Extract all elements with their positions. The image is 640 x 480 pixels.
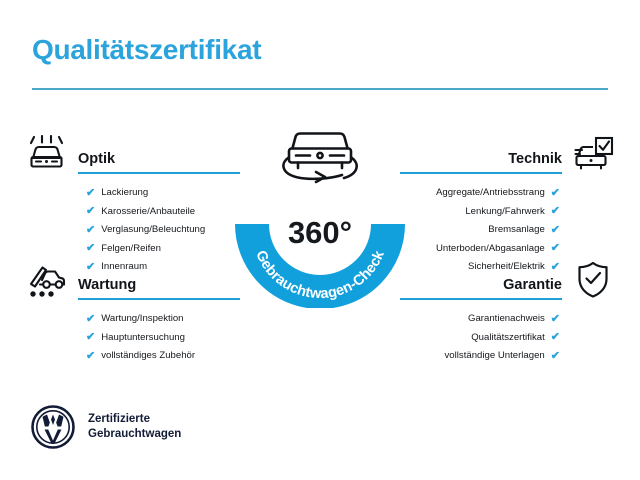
check-icon: ✔ [86, 188, 95, 199]
check-icon: ✔ [551, 314, 560, 325]
list-item-label: Aggregate/Antriebsstrang [436, 184, 545, 203]
list-item-label: vollständiges Zubehör [101, 347, 195, 366]
section-wartung-list: ✔Wartung/Inspektion ✔Hauptuntersuchung ✔… [24, 310, 240, 366]
list-item: Qualitätszertifikat✔ [400, 329, 616, 348]
vw-footer: Zertifizierte Gebrauchtwagen [30, 404, 181, 450]
list-item: ✔vollständiges Zubehör [24, 347, 240, 366]
list-item-label: vollständige Unterlagen [445, 347, 545, 366]
list-item-label: Karosserie/Anbauteile [101, 203, 195, 222]
section-optik-header: Optik [24, 132, 240, 174]
check-icon: ✔ [86, 225, 95, 236]
badge-360-gebrauchtwagen-check: Gebrauchtwagen-Check 360° [228, 112, 412, 308]
list-item-label: Felgen/Reifen [101, 240, 161, 259]
car-service-wrench-icon [24, 260, 70, 300]
section-optik-title: Optik [70, 150, 240, 172]
vw-logo-icon [30, 404, 76, 450]
list-item-label: Unterboden/Abgasanlage [436, 240, 545, 259]
section-wartung: Wartung ✔Wartung/Inspektion ✔Hauptunters… [24, 258, 240, 366]
list-item: ✔Lackierung [24, 184, 240, 203]
list-item: Unterboden/Abgasanlage✔ [400, 240, 616, 259]
check-icon: ✔ [551, 188, 560, 199]
check-icon: ✔ [551, 243, 560, 254]
list-item-label: Bremsanlage [488, 221, 545, 240]
vw-footer-line1: Zertifizierte [88, 412, 181, 427]
check-icon: ✔ [86, 206, 95, 217]
list-item: ✔Felgen/Reifen [24, 240, 240, 259]
list-item: ✔Wartung/Inspektion [24, 310, 240, 329]
list-item-label: Hauptuntersuchung [101, 329, 185, 348]
list-item-label: Wartung/Inspektion [101, 310, 183, 329]
list-item: vollständige Unterlagen✔ [400, 347, 616, 366]
list-item: Lenkung/Fahrwerk✔ [400, 203, 616, 222]
check-icon: ✔ [86, 243, 95, 254]
check-icon: ✔ [551, 351, 560, 362]
section-wartung-underline [78, 298, 240, 300]
section-optik: Optik ✔Lackierung ✔Karosserie/Anbauteile… [24, 132, 240, 277]
list-item-label: Verglasung/Beleuchtung [101, 221, 205, 240]
list-item: Aggregate/Antriebsstrang✔ [400, 184, 616, 203]
list-item: Garantienachweis✔ [400, 310, 616, 329]
check-icon: ✔ [551, 206, 560, 217]
page-title: Qualitätszertifikat [32, 34, 261, 66]
car-checkbox-icon [570, 134, 616, 174]
vw-footer-text: Zertifizierte Gebrauchtwagen [88, 412, 181, 442]
check-icon: ✔ [86, 351, 95, 362]
list-item-label: Lenkung/Fahrwerk [465, 203, 544, 222]
quality-certificate-page: Qualitätszertifikat [0, 0, 640, 480]
section-garantie-list: Garantienachweis✔ Qualitätszertifikat✔ v… [400, 310, 616, 366]
list-item-label: Qualitätszertifikat [471, 329, 545, 348]
section-garantie: Garantie Garantienachweis✔ Qualitätszert… [400, 258, 616, 366]
list-item-label: Garantienachweis [468, 310, 545, 329]
check-icon: ✔ [551, 332, 560, 343]
list-item: ✔Verglasung/Beleuchtung [24, 221, 240, 240]
section-wartung-title: Wartung [70, 276, 240, 298]
list-item: Bremsanlage✔ [400, 221, 616, 240]
section-garantie-title: Garantie [400, 276, 570, 298]
section-technik-title: Technik [400, 150, 570, 172]
section-garantie-header: Garantie [400, 258, 616, 300]
list-item-label: Lackierung [101, 184, 148, 203]
section-technik-underline [400, 172, 562, 174]
title-divider [32, 88, 608, 90]
shield-check-icon [570, 260, 616, 300]
section-wartung-header: Wartung [24, 258, 240, 300]
car-shine-icon [24, 134, 70, 174]
list-item: ✔Karosserie/Anbauteile [24, 203, 240, 222]
section-optik-underline [78, 172, 240, 174]
list-item: ✔Hauptuntersuchung [24, 329, 240, 348]
check-icon: ✔ [86, 332, 95, 343]
section-garantie-underline [400, 298, 562, 300]
section-technik: Technik Aggregate/Antriebsstrang✔ [400, 132, 616, 277]
badge-number: 360° [228, 215, 412, 251]
vw-footer-line2: Gebrauchtwagen [88, 427, 181, 442]
check-icon: ✔ [86, 314, 95, 325]
check-icon: ✔ [551, 225, 560, 236]
section-technik-header: Technik [400, 132, 616, 174]
